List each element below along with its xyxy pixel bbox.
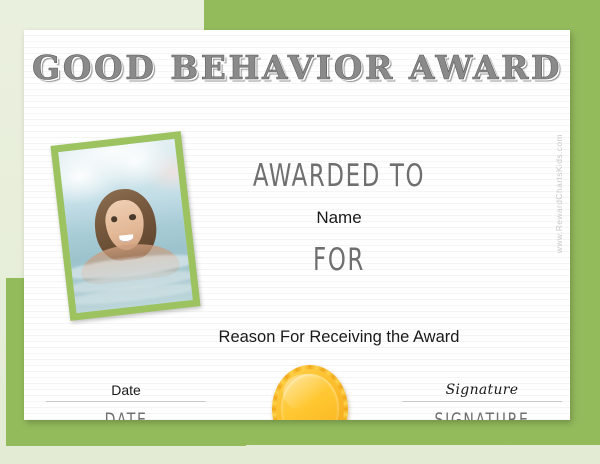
signature-rule (402, 401, 562, 402)
date-label: Date (46, 382, 206, 399)
date-rule (46, 401, 206, 402)
swimming-girl-photo (58, 139, 193, 313)
awarded-to-label: AWARDED TO (237, 158, 442, 194)
certificate-title: GOOD BEHAVIOR AWARD (24, 48, 570, 87)
recipient-name-field[interactable]: Name (214, 208, 464, 228)
signature-value[interactable]: SIGNATURE (416, 409, 547, 420)
site-watermark: www.RewardChartsKids.com (554, 134, 564, 253)
photo-eye-right (129, 214, 136, 220)
signature-label: Signature (402, 382, 562, 399)
page-background: GOOD BEHAVIOR AWARD AWARDED TO Name FOR … (0, 0, 600, 464)
date-value[interactable]: DATE (60, 409, 191, 420)
photo-frame[interactable] (50, 131, 200, 321)
certificate-card: GOOD BEHAVIOR AWARD AWARDED TO Name FOR … (24, 30, 570, 420)
gold-seal-icon[interactable] (272, 365, 348, 420)
seal-highlight (283, 374, 327, 411)
signature-block: Signature SIGNATURE (402, 382, 562, 420)
reason-field[interactable]: Reason For Receiving the Award (144, 328, 534, 347)
date-block: Date DATE (46, 382, 206, 420)
for-label: FOR (237, 242, 442, 278)
